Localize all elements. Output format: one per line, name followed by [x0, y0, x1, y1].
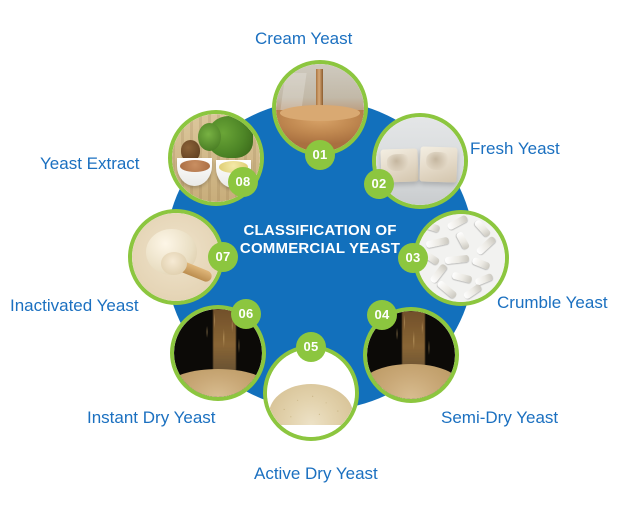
- node-05-badge: 05: [296, 332, 326, 362]
- inactivated-yeast-powder-image: [132, 213, 220, 301]
- yeast-classification-infographic: CLASSIFICATION OF COMMERCIAL YEAST 01 Cr…: [0, 0, 640, 515]
- node-03-badge: 03: [398, 243, 428, 273]
- node-06-instant-dry-yeast[interactable]: 06: [170, 305, 266, 401]
- crumble-yeast-pellets-image: [417, 214, 505, 302]
- node-07-inactivated-yeast[interactable]: 07: [128, 209, 224, 305]
- node-08-label: Yeast Extract: [40, 154, 140, 174]
- node-02-fresh-yeast[interactable]: 02: [372, 113, 468, 209]
- node-04-label: Semi-Dry Yeast: [441, 408, 558, 428]
- node-01-badge: 01: [305, 140, 335, 170]
- node-05-label: Active Dry Yeast: [254, 464, 378, 484]
- cream-yeast-vessel-image: [276, 64, 364, 152]
- node-03-label: Crumble Yeast: [497, 293, 608, 313]
- node-04-badge: 04: [367, 300, 397, 330]
- node-02-badge: 02: [364, 169, 394, 199]
- node-07-label: Inactivated Yeast: [10, 296, 139, 316]
- node-06-badge: 06: [231, 299, 261, 329]
- node-05-active-dry-yeast[interactable]: 05: [263, 345, 359, 441]
- node-07-badge: 07: [208, 242, 238, 272]
- node-03-crumble-yeast[interactable]: 03: [413, 210, 509, 306]
- node-08-badge: 08: [228, 167, 258, 197]
- node-04-semi-dry-yeast[interactable]: 04: [363, 307, 459, 403]
- node-08-yeast-extract[interactable]: 08: [168, 110, 264, 206]
- node-01-label: Cream Yeast: [255, 29, 352, 49]
- active-dry-yeast-heap-image: [267, 349, 355, 437]
- node-02-label: Fresh Yeast: [470, 139, 560, 159]
- node-06-label: Instant Dry Yeast: [87, 408, 216, 428]
- node-01-cream-yeast[interactable]: 01: [272, 60, 368, 156]
